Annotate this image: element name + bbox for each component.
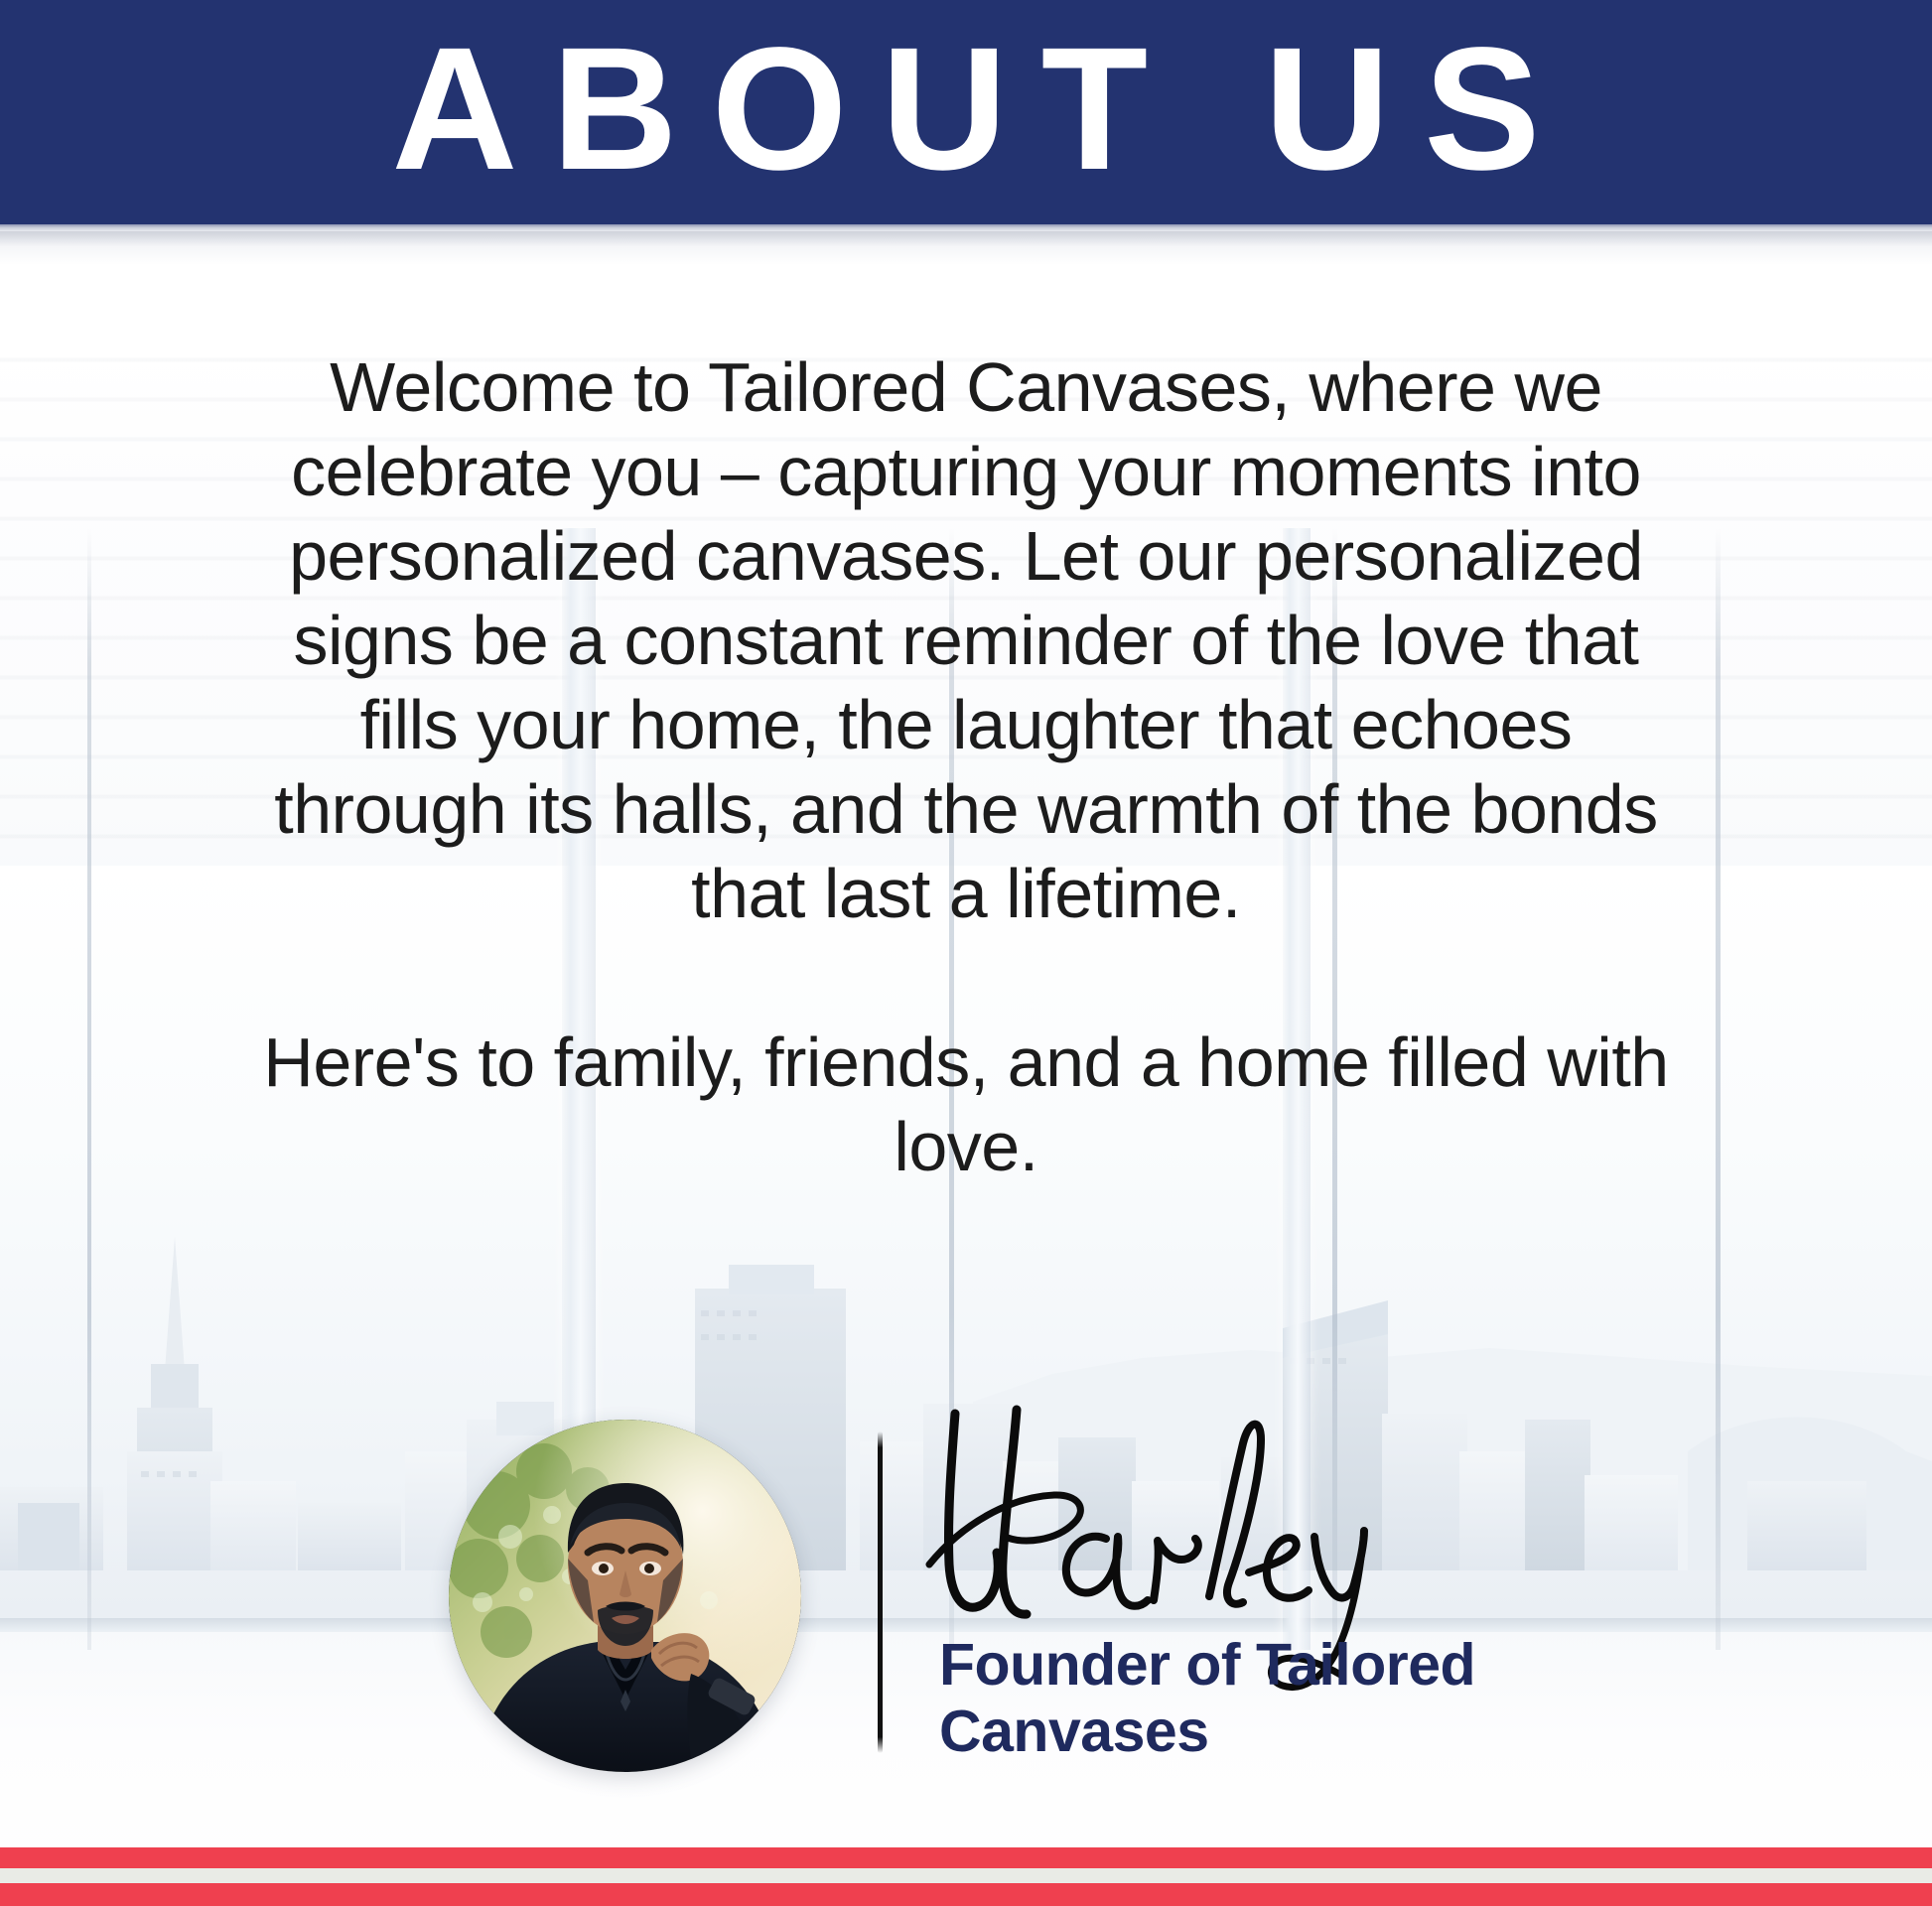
- copy-paragraph-2: Here's to family, friends, and a home fi…: [256, 1021, 1676, 1189]
- avatar: [449, 1420, 801, 1772]
- founder-title: Founder of Tailored Canvases: [939, 1632, 1634, 1765]
- about-us-page: ABOUT US Welcome to Tailored Canvases, w…: [0, 0, 1932, 1906]
- paragraph-spacer: [256, 936, 1676, 1021]
- about-us-header-banner: ABOUT US: [0, 0, 1932, 224]
- footer-bar-top: [0, 1847, 1932, 1868]
- page-title: ABOUT US: [357, 22, 1574, 197]
- signature-divider: [878, 1431, 883, 1753]
- founder-signature-block: Founder of Tailored Canvases: [0, 1402, 1932, 1819]
- header-underline: [0, 224, 1932, 231]
- about-us-copy: Welcome to Tailored Canvases, where we c…: [256, 345, 1676, 1189]
- footer-bar-gap: [0, 1868, 1932, 1883]
- footer-bar-bottom: [0, 1883, 1932, 1906]
- copy-paragraph-1: Welcome to Tailored Canvases, where we c…: [256, 345, 1676, 936]
